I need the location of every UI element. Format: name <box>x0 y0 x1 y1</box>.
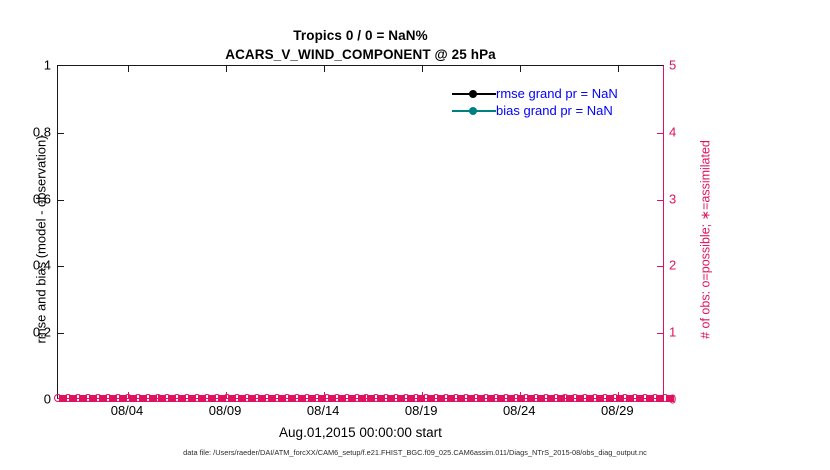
chart-legend[interactable]: rmse grand pr = NaN bias grand pr = NaN <box>452 84 648 120</box>
obs-possible-marker <box>412 394 420 402</box>
obs-possible-marker <box>243 394 251 402</box>
obs-possible-marker <box>353 394 361 402</box>
obs-possible-marker <box>512 394 520 402</box>
x-tick-bottom <box>128 392 129 398</box>
y-tick-right <box>657 200 663 201</box>
obs-assimilated-marker <box>358 395 366 402</box>
obs-possible-marker <box>561 394 569 402</box>
obs-possible-marker <box>542 394 550 402</box>
obs-assimilated-marker <box>527 395 535 402</box>
obs-possible-marker <box>472 394 480 402</box>
y-axis-right-ticks: 012345 <box>669 65 709 399</box>
obs-assimilated-marker <box>586 395 594 402</box>
obs-possible-marker <box>253 394 261 402</box>
y-tick-label-left: 0.6 <box>33 191 51 206</box>
obs-assimilated-marker <box>557 395 565 402</box>
obs-possible-marker <box>591 394 599 402</box>
obs-assimilated-marker <box>477 395 485 402</box>
obs-assimilated-marker <box>427 395 435 402</box>
obs-assimilated-marker <box>377 395 385 402</box>
obs-possible-marker <box>522 394 530 402</box>
obs-possible-marker <box>631 394 639 402</box>
obs-assimilated-marker <box>188 395 196 402</box>
obs-possible-marker <box>641 394 649 402</box>
obs-possible-marker <box>442 394 450 402</box>
obs-assimilated-marker <box>626 395 634 402</box>
obs-possible-marker <box>372 394 380 402</box>
x-axis-title: Aug.01,2015 00:00:00 start <box>57 425 664 440</box>
obs-assimilated-marker <box>278 395 286 402</box>
x-tick-bottom <box>618 392 619 398</box>
obs-assimilated-marker <box>656 395 664 402</box>
legend-item-bias[interactable]: bias grand pr = NaN <box>452 102 648 119</box>
x-axis-ticks: 08/0408/0908/1408/1908/2408/29 <box>57 403 664 421</box>
obs-assimilated-marker <box>268 395 276 402</box>
obs-assimilated-marker <box>596 395 604 402</box>
y-tick-label-right: 0 <box>669 392 676 407</box>
legend-line-marker-rmse <box>452 87 496 101</box>
y-tick-label-left: 0.8 <box>33 124 51 139</box>
obs-assimilated-marker <box>59 395 67 402</box>
obs-possible-marker <box>502 394 510 402</box>
y-tick-label-right: 2 <box>669 258 676 273</box>
obs-assimilated-marker <box>397 395 405 402</box>
obs-assimilated-marker <box>457 395 465 402</box>
x-tick-top <box>422 66 423 72</box>
chart-subtitle: ACARS_V_WIND_COMPONENT @ 25 hPa <box>57 45 664 64</box>
x-tick-top <box>618 66 619 72</box>
obs-possible-marker <box>64 394 72 402</box>
obs-assimilated-marker <box>129 395 137 402</box>
obs-possible-marker <box>154 394 162 402</box>
y-tick-label-right: 3 <box>669 191 676 206</box>
y-tick-label-right: 5 <box>669 58 676 73</box>
obs-assimilated-marker <box>328 395 336 402</box>
obs-assimilated-marker <box>198 395 206 402</box>
obs-possible-marker <box>333 394 341 402</box>
obs-possible-marker <box>601 394 609 402</box>
x-tick-top <box>520 66 521 72</box>
obs-assimilated-marker <box>168 395 176 402</box>
obs-assimilated-marker <box>367 395 375 402</box>
obs-assimilated-marker <box>348 395 356 402</box>
obs-possible-marker <box>571 394 579 402</box>
x-tick-top <box>128 66 129 72</box>
x-tick-top <box>324 66 325 72</box>
obs-possible-marker <box>621 394 629 402</box>
obs-assimilated-marker <box>218 395 226 402</box>
obs-assimilated-marker <box>258 395 266 402</box>
obs-possible-marker <box>223 394 231 402</box>
obs-possible-marker <box>581 394 589 402</box>
obs-assimilated-marker <box>288 395 296 402</box>
obs-possible-marker <box>283 394 291 402</box>
obs-possible-marker <box>114 394 122 402</box>
y-tick-left <box>58 333 64 334</box>
obs-possible-marker <box>482 394 490 402</box>
chart-title: Tropics 0 / 0 = NaN% <box>57 26 664 45</box>
x-tick-label: 08/19 <box>405 403 438 418</box>
obs-possible-marker <box>303 394 311 402</box>
y-tick-label-right: 4 <box>669 124 676 139</box>
obs-assimilated-marker <box>507 395 515 402</box>
obs-possible-marker <box>273 394 281 402</box>
obs-assimilated-marker <box>308 395 316 402</box>
obs-possible-marker <box>651 394 659 402</box>
obs-possible-marker <box>203 394 211 402</box>
obs-possible-marker <box>213 394 221 402</box>
obs-possible-marker <box>74 394 82 402</box>
legend-label-bias: bias grand pr = NaN <box>496 104 613 118</box>
obs-assimilated-marker <box>537 395 545 402</box>
data-file-note: data file: /Users/raeder/DAI/ATM_forcXX/… <box>0 448 830 457</box>
obs-assimilated-marker <box>606 395 614 402</box>
obs-possible-marker <box>382 394 390 402</box>
chart-title-block: Tropics 0 / 0 = NaN% ACARS_V_WIND_COMPON… <box>57 26 664 64</box>
x-tick-label: 08/24 <box>503 403 536 418</box>
obs-assimilated-marker <box>576 395 584 402</box>
obs-assimilated-marker <box>487 395 495 402</box>
obs-possible-marker <box>552 394 560 402</box>
obs-assimilated-marker <box>387 395 395 402</box>
x-tick-label: 08/14 <box>307 403 340 418</box>
y-tick-label-right: 1 <box>669 325 676 340</box>
obs-possible-marker <box>432 394 440 402</box>
obs-assimilated-marker <box>109 395 117 402</box>
obs-assimilated-marker <box>298 395 306 402</box>
obs-possible-marker <box>134 394 142 402</box>
figure-canvas: Tropics 0 / 0 = NaN% ACARS_V_WIND_COMPON… <box>0 0 830 470</box>
y-tick-left <box>58 266 64 267</box>
x-tick-label: 08/09 <box>209 403 242 418</box>
y-tick-left <box>58 133 64 134</box>
obs-assimilated-marker <box>119 395 127 402</box>
obs-assimilated-marker <box>178 395 186 402</box>
legend-label-rmse: rmse grand pr = NaN <box>496 87 618 101</box>
x-tick-bottom <box>520 392 521 398</box>
legend-line-marker-bias <box>452 104 496 118</box>
obs-possible-marker <box>94 394 102 402</box>
y-axis-left-ticks: 00.20.40.60.81 <box>0 65 51 399</box>
obs-possible-marker <box>452 394 460 402</box>
obs-assimilated-marker <box>79 395 87 402</box>
obs-possible-marker <box>263 394 271 402</box>
obs-possible-marker <box>392 394 400 402</box>
obs-possible-marker <box>84 394 92 402</box>
x-tick-bottom <box>324 392 325 398</box>
obs-assimilated-marker <box>228 395 236 402</box>
x-tick-bottom <box>226 392 227 398</box>
obs-possible-marker <box>183 394 191 402</box>
obs-assimilated-marker <box>208 395 216 402</box>
obs-possible-marker <box>293 394 301 402</box>
obs-possible-marker <box>163 394 171 402</box>
x-tick-label: 08/04 <box>111 403 144 418</box>
y-tick-label-left: 1 <box>44 58 51 73</box>
obs-assimilated-marker <box>437 395 445 402</box>
obs-assimilated-marker <box>149 395 157 402</box>
legend-item-rmse[interactable]: rmse grand pr = NaN <box>452 85 648 102</box>
y-tick-label-left: 0 <box>44 392 51 407</box>
obs-assimilated-marker <box>139 395 147 402</box>
obs-possible-marker <box>362 394 370 402</box>
obs-possible-marker <box>422 394 430 402</box>
obs-assimilated-marker <box>467 395 475 402</box>
obs-assimilated-marker <box>547 395 555 402</box>
y-tick-right <box>657 266 663 267</box>
obs-assimilated-marker <box>248 395 256 402</box>
obs-assimilated-marker <box>407 395 415 402</box>
obs-assimilated-marker <box>89 395 97 402</box>
y-tick-right <box>657 133 663 134</box>
obs-possible-marker <box>661 394 669 402</box>
y-tick-label-left: 0.4 <box>33 258 51 273</box>
obs-assimilated-marker <box>238 395 246 402</box>
obs-possible-marker <box>402 394 410 402</box>
obs-possible-marker <box>104 394 112 402</box>
obs-marker-series <box>58 392 663 402</box>
obs-possible-marker <box>54 394 62 402</box>
obs-possible-marker <box>313 394 321 402</box>
y-tick-label-left: 0.2 <box>33 325 51 340</box>
obs-possible-marker <box>193 394 201 402</box>
obs-possible-marker <box>532 394 540 402</box>
obs-possible-marker <box>173 394 181 402</box>
obs-assimilated-marker <box>646 395 654 402</box>
obs-assimilated-marker <box>497 395 505 402</box>
obs-possible-marker <box>233 394 241 402</box>
obs-possible-marker <box>144 394 152 402</box>
obs-assimilated-marker <box>447 395 455 402</box>
obs-assimilated-marker <box>566 395 574 402</box>
x-tick-top <box>226 66 227 72</box>
obs-assimilated-marker <box>636 395 644 402</box>
x-tick-label: 08/29 <box>601 403 634 418</box>
y-tick-left <box>58 200 64 201</box>
obs-assimilated-marker <box>69 395 77 402</box>
obs-possible-marker <box>492 394 500 402</box>
obs-assimilated-marker <box>99 395 107 402</box>
obs-assimilated-marker <box>158 395 166 402</box>
x-tick-bottom <box>422 392 423 398</box>
obs-possible-marker <box>462 394 470 402</box>
obs-assimilated-marker <box>338 395 346 402</box>
y-tick-right <box>657 333 663 334</box>
obs-possible-marker <box>343 394 351 402</box>
